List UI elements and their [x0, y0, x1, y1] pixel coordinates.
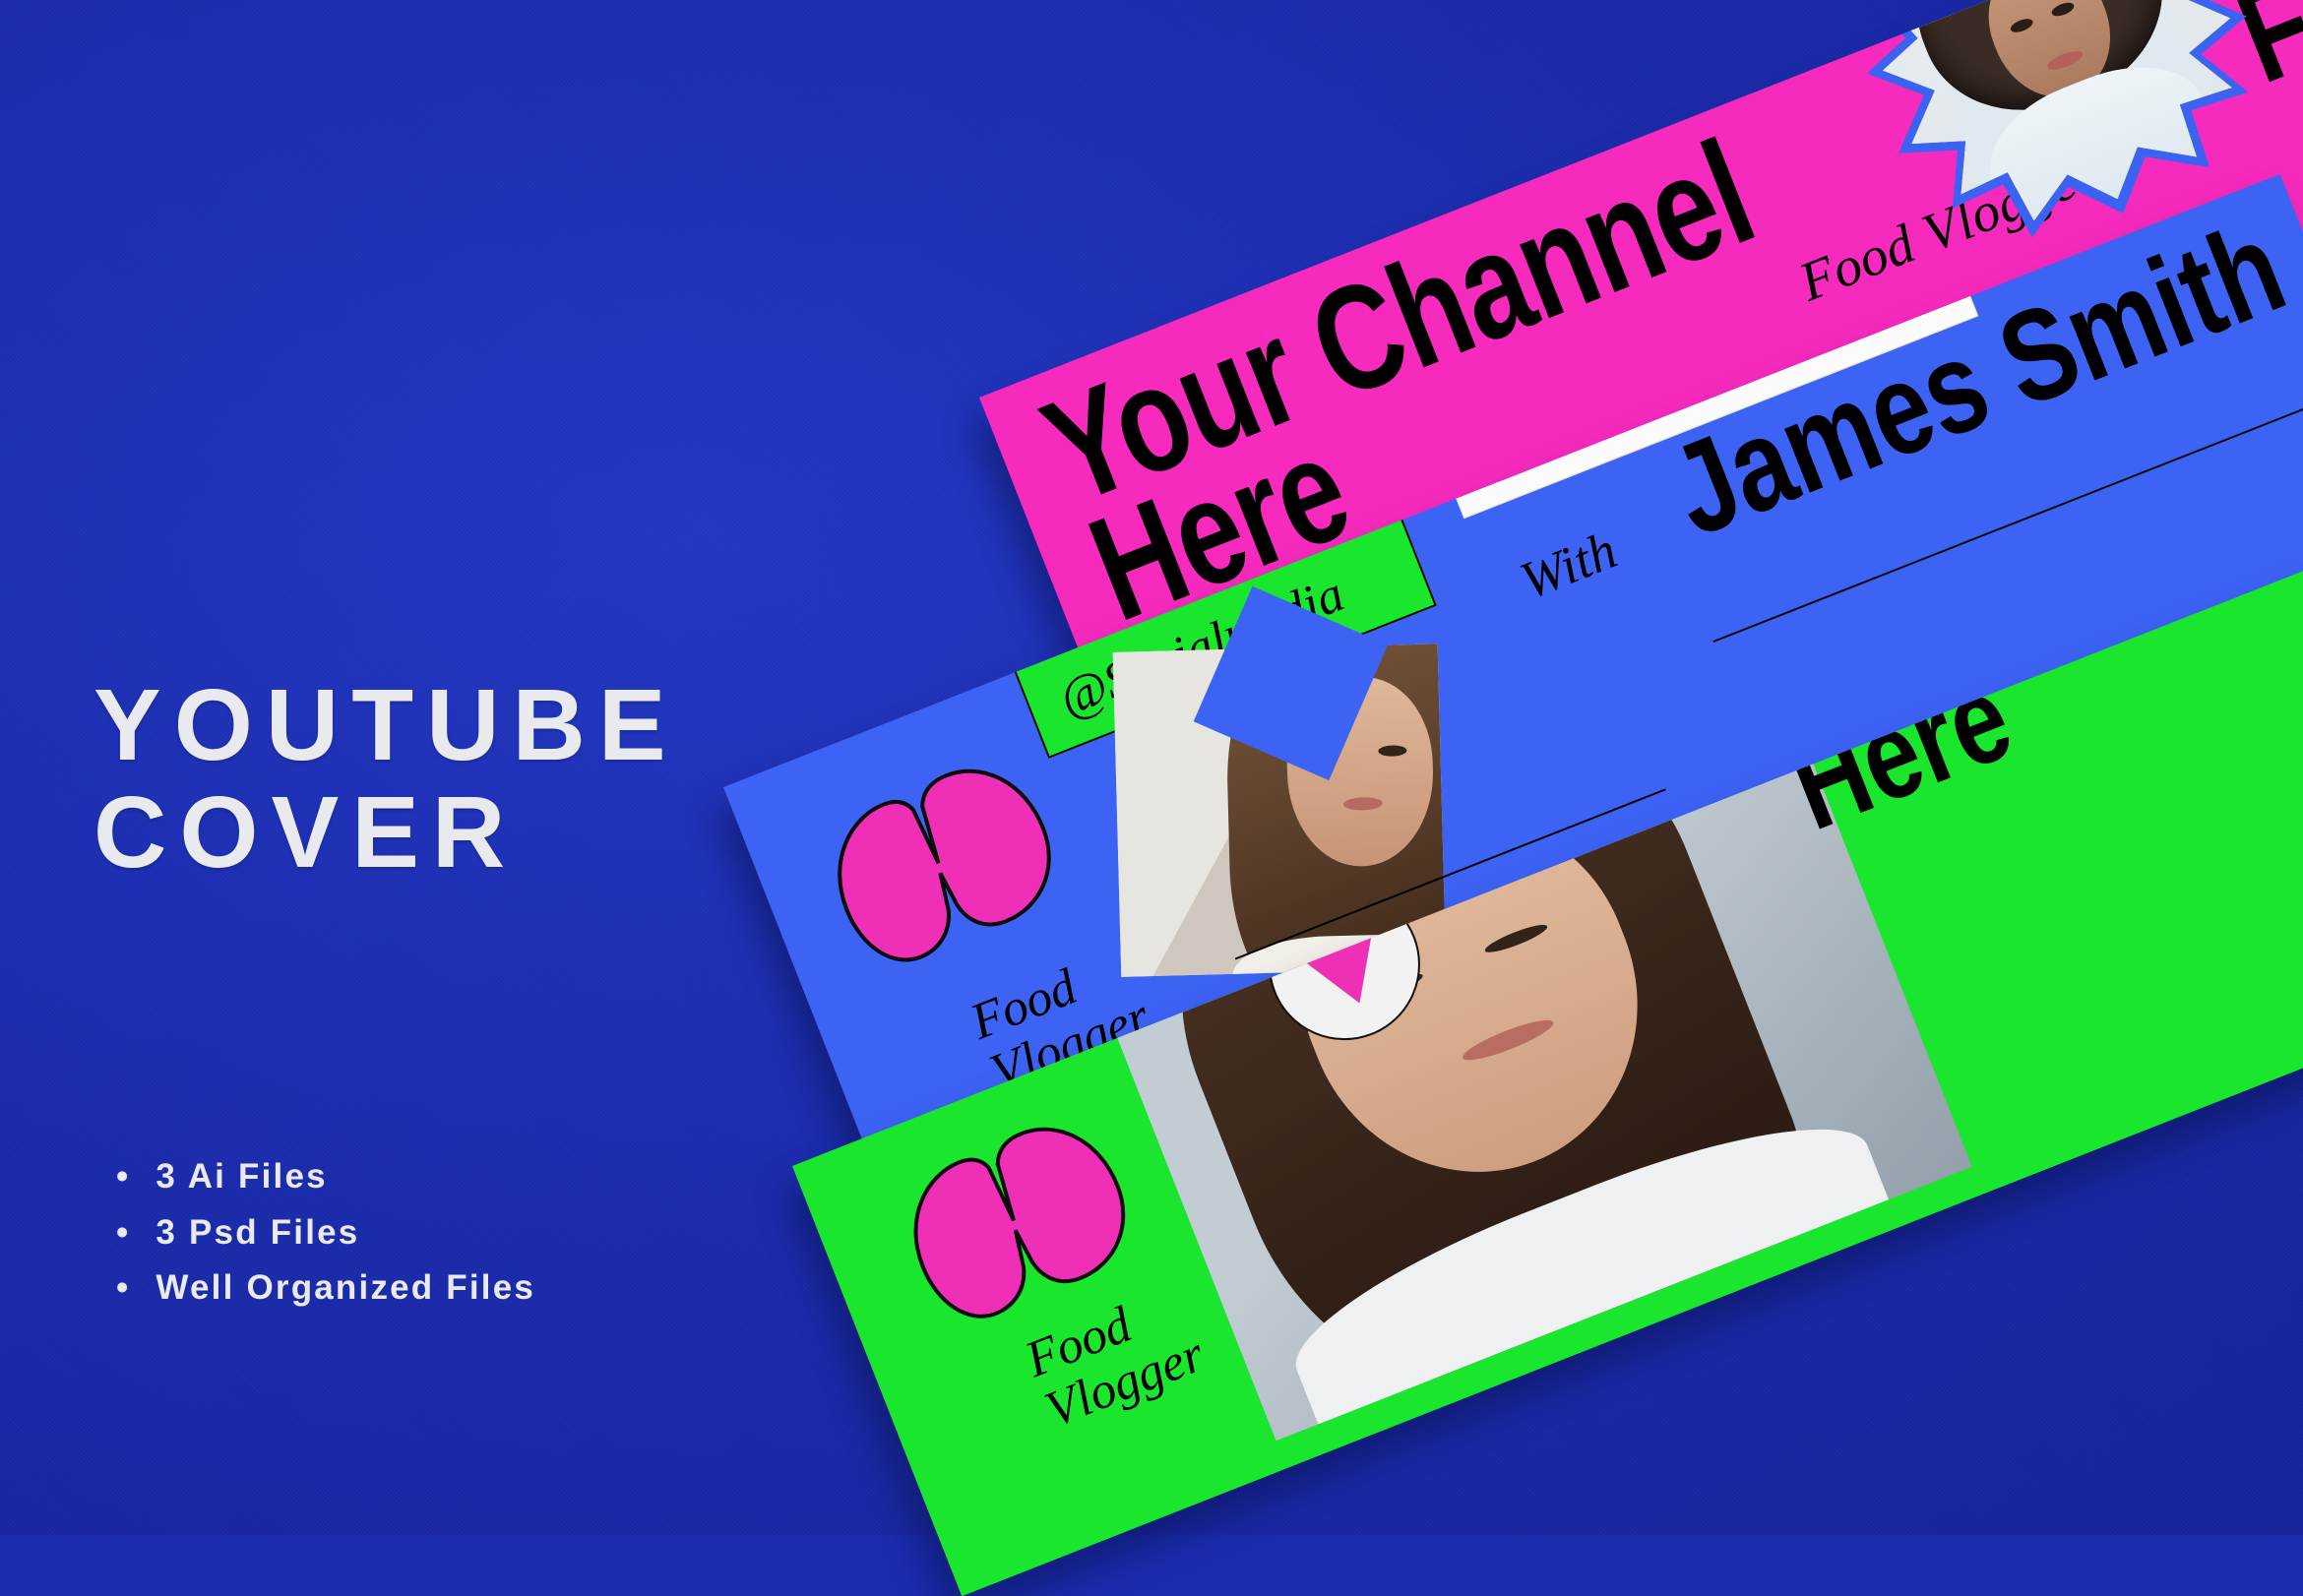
- list-item: • Well Organized Files: [116, 1260, 535, 1317]
- with-label: With: [1512, 520, 1625, 612]
- quote-blob-icon: [805, 741, 1080, 982]
- list-item-label: 3 Psd Files: [156, 1213, 359, 1252]
- feature-list: • 3 Ai Files • 3 Psd Files • Well Organi…: [116, 1149, 535, 1317]
- bullet-icon: •: [116, 1205, 130, 1261]
- bullet-icon: •: [116, 1149, 130, 1205]
- title-line-2: COVER: [93, 786, 841, 880]
- list-item: • 3 Ai Files: [116, 1149, 535, 1205]
- page-title: YOUTUBE COVER: [93, 679, 841, 880]
- list-item: • 3 Psd Files: [116, 1205, 535, 1261]
- list-item-label: Well Organized Files: [156, 1268, 535, 1307]
- title-line-1: YOUTUBE: [93, 668, 679, 781]
- bullet-icon: •: [116, 1260, 130, 1317]
- green-role-label: Food Vlogger: [1019, 1277, 1212, 1439]
- list-item-label: 3 Ai Files: [156, 1157, 327, 1196]
- promo-heading: YOUTUBE COVER: [93, 679, 841, 880]
